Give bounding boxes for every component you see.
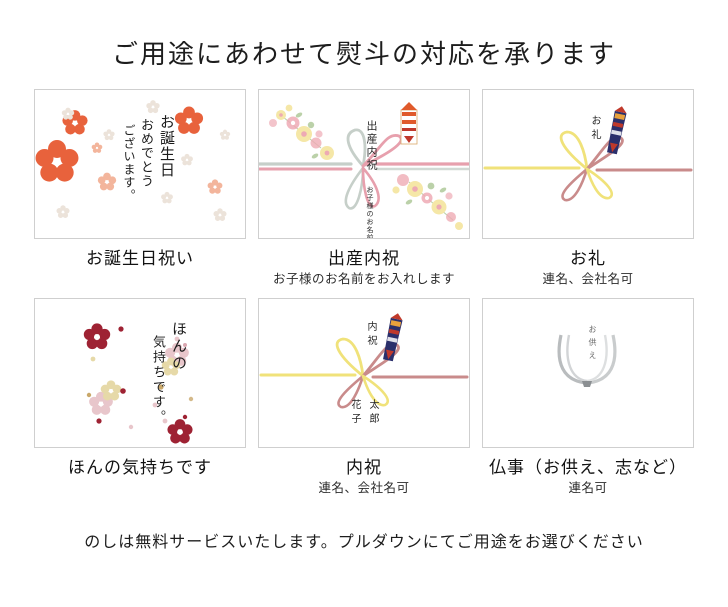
honno-brush-line-1: ほんの bbox=[169, 321, 185, 372]
page-title: ご用途にあわせて熨斗の対応を承ります bbox=[0, 0, 728, 71]
card-image-birthday[interactable]: お誕生日 おめでとう ございます。 bbox=[34, 89, 246, 239]
noshi-option-orei[interactable]: お礼 お礼 連名、会社名可 bbox=[481, 89, 695, 288]
birthday-brush-line-1: お誕生日 bbox=[157, 114, 173, 178]
noshi-option-birthday[interactable]: お誕生日 おめでとう ございます。 お誕生日祝い bbox=[33, 89, 247, 288]
caption-main-honno: ほんの気持ちです bbox=[68, 457, 212, 478]
caption-orei: お礼 連名、会社名可 bbox=[542, 248, 633, 288]
noshi-card-grid: お誕生日 おめでとう ございます。 お誕生日祝い bbox=[0, 89, 728, 497]
noshi-title-orei: お礼 bbox=[587, 115, 602, 143]
noshi-title-uchiiwai: 内祝 bbox=[363, 321, 378, 349]
noshi-ornament-red bbox=[401, 102, 417, 144]
caption-birthday: お誕生日祝い bbox=[86, 248, 194, 269]
caption-sub-uchiiwai: 連名、会社名可 bbox=[318, 481, 409, 497]
card-image-uchiiwai[interactable]: 内祝 太郎 花子 bbox=[258, 298, 470, 448]
noshi-memorial-illustration bbox=[483, 299, 693, 447]
noshi-title-butsuji: お供え bbox=[587, 325, 598, 364]
caption-main-butsuji: 仏事（お供え、志など） bbox=[489, 457, 687, 478]
caption-main-orei: お礼 bbox=[542, 248, 633, 269]
noshi-title-shussan: 出産内祝 bbox=[363, 120, 379, 172]
caption-sub-shussan: お子様のお名前をお入れします bbox=[273, 272, 455, 288]
card-image-honno-kimochi[interactable]: ほんの 気持ちです。 bbox=[34, 298, 246, 448]
noshi-plain-illustration bbox=[483, 90, 693, 238]
noshi-name-hanako: 花子 bbox=[347, 399, 362, 427]
caption-shussan-uchiiwai: 出産内祝 お子様のお名前をお入れします bbox=[273, 248, 455, 288]
footer-note: のしは無料サービスいたします。プルダウンにてご用途をお選びください bbox=[0, 528, 728, 552]
caption-main-uchiiwai: 内祝 bbox=[318, 457, 409, 478]
birthday-brush-line-3: ございます。 bbox=[122, 124, 135, 202]
caption-main-birthday: お誕生日祝い bbox=[86, 248, 194, 269]
caption-uchiiwai: 内祝 連名、会社名可 bbox=[318, 457, 409, 497]
caption-sub-orei: 連名、会社名可 bbox=[542, 272, 633, 288]
card-image-butsuji[interactable]: お供え bbox=[482, 298, 694, 448]
caption-honno-kimochi: ほんの気持ちです bbox=[68, 457, 212, 478]
noshi-name-shussan: お子様のお名前 bbox=[365, 186, 375, 239]
noshi-options-page: ご用途にあわせて熨斗の対応を承ります bbox=[0, 0, 728, 607]
plum-illustration bbox=[35, 299, 245, 447]
noshi-name-taro: 太郎 bbox=[365, 399, 380, 427]
noshi-option-shussan-uchiiwai[interactable]: 出産内祝 お子様のお名前 出産内祝 お子様のお名前をお入れします bbox=[257, 89, 471, 288]
card-image-orei[interactable]: お礼 bbox=[482, 89, 694, 239]
birthday-brush-line-2: おめでとう bbox=[139, 118, 153, 188]
noshi-option-uchiiwai[interactable]: 内祝 太郎 花子 内祝 連名、会社名可 bbox=[257, 298, 471, 497]
caption-butsuji: 仏事（お供え、志など） 連名可 bbox=[489, 457, 687, 497]
noshi-option-honno-kimochi[interactable]: ほんの 気持ちです。 ほんの気持ちです bbox=[33, 298, 247, 497]
honno-brush-line-2: 気持ちです。 bbox=[151, 335, 165, 425]
noshi-option-butsuji[interactable]: お供え 仏事（お供え、志など） 連名可 bbox=[481, 298, 695, 497]
caption-sub-butsuji: 連名可 bbox=[489, 481, 687, 497]
card-image-shussan-uchiiwai[interactable]: 出産内祝 お子様のお名前 bbox=[258, 89, 470, 239]
caption-main-shussan: 出産内祝 bbox=[273, 248, 455, 269]
